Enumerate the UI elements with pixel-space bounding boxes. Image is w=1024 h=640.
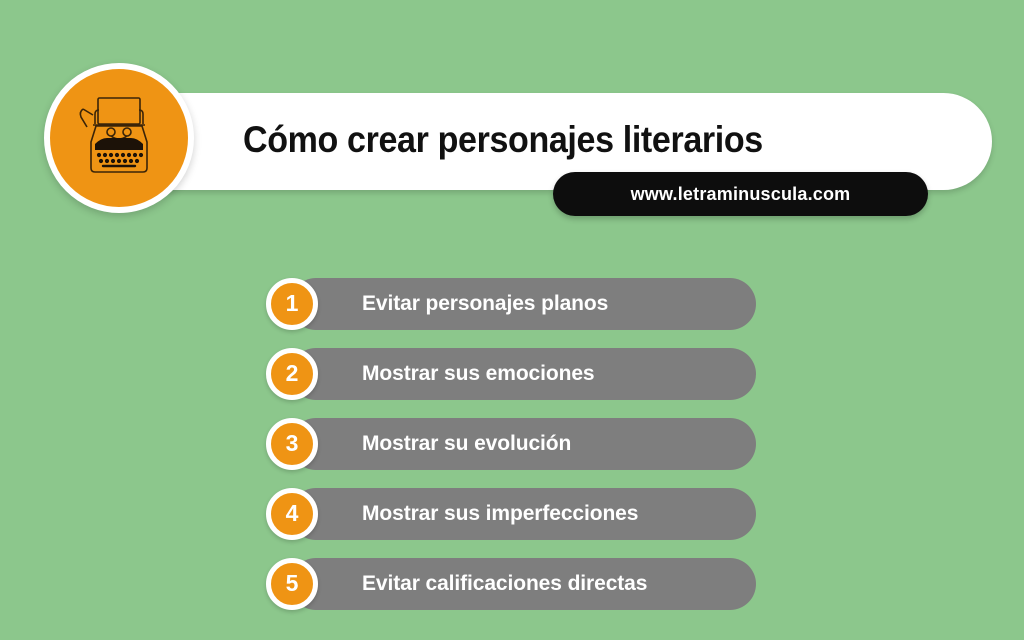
step-number: 1 (266, 278, 318, 330)
step-label: Evitar calificaciones directas (362, 558, 647, 610)
step-label: Evitar personajes planos (362, 278, 608, 330)
step-row-1[interactable]: Evitar personajes planos 1 (266, 278, 756, 330)
logo-badge (44, 63, 194, 213)
step-number: 5 (266, 558, 318, 610)
step-row-3[interactable]: Mostrar su evolución 3 (266, 418, 756, 470)
step-number: 4 (266, 488, 318, 540)
typewriter-icon (71, 94, 167, 182)
step-label: Mostrar su evolución (362, 418, 571, 470)
step-label: Mostrar sus emociones (362, 348, 594, 400)
step-label: Mostrar sus imperfecciones (362, 488, 638, 540)
step-number: 2 (266, 348, 318, 400)
page-title: Cómo crear personajes literarios (243, 112, 887, 168)
step-row-4[interactable]: Mostrar sus imperfecciones 4 (266, 488, 756, 540)
step-number: 3 (266, 418, 318, 470)
step-row-2[interactable]: Mostrar sus emociones 2 (266, 348, 756, 400)
website-url-label: www.letraminuscula.com (553, 172, 928, 216)
infographic-canvas: Cómo crear personajes literarios www.let… (0, 0, 1024, 640)
step-row-5[interactable]: Evitar calificaciones directas 5 (266, 558, 756, 610)
